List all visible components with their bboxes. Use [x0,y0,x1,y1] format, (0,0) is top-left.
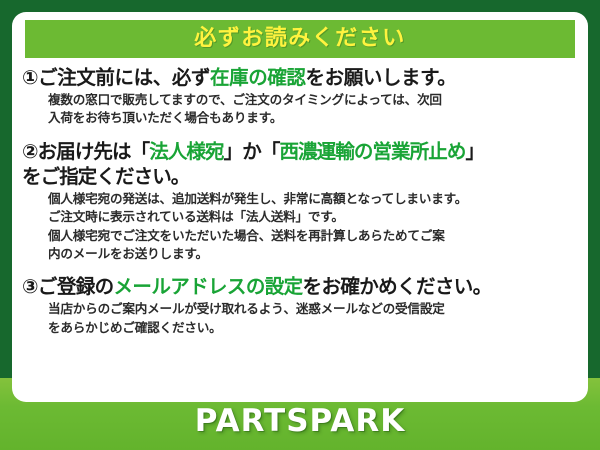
section-3-body-line: 当店からのご案内メールが受け取れるよう、迷惑メールなどの受信設定 [48,300,578,318]
section-2-heading-highlight-depot: 西濃運輸の営業所止め [279,140,465,163]
section-1-heading-before: ご注文前には、必ず [38,66,210,89]
notice-section-3: ③ご登録のメールアドレスの設定をお確かめください。 当店からのご案内メールが受け… [22,275,578,337]
notice-section-2: ②お届け先は「法人様宛」か「西濃運輸の営業所止め」 をご指定ください。 個人様宅… [22,140,578,264]
section-3-heading-after: をお確かめください。 [303,275,492,298]
section-1-heading: ①ご注文前には、必ず在庫の確認をお願いします。 [22,66,578,89]
section-2-body-line: 内のメールをお送りします。 [48,245,578,263]
notice-header-bar: 必ずお読みください [25,20,575,58]
section-1-heading-after: をお願いします。 [306,66,457,89]
section-2-heading-after: 」 [465,140,484,163]
brand-wordmark: PARTSPARK [195,406,406,437]
notice-card: 必ずお読みください ①ご注文前には、必ず在庫の確認をお願いします。 複数の窓口で… [12,12,588,402]
section-1-marker: ① [22,66,38,89]
section-3-body: 当店からのご案内メールが受け取れるよう、迷惑メールなどの受信設定 をあらかじめご… [48,300,578,337]
section-2-heading-middle: 」か「 [224,140,280,163]
section-2-heading: ②お届け先は「法人様宛」か「西濃運輸の営業所止め」 [22,140,578,163]
section-1-body: 複数の窓口で販売してますので、ご注文のタイミングによっては、次回 入荷をお待ち頂… [48,91,578,128]
notice-section-1: ①ご注文前には、必ず在庫の確認をお願いします。 複数の窓口で販売してますので、ご… [22,66,578,128]
section-3-heading: ③ご登録のメールアドレスの設定をお確かめください。 [22,275,578,298]
section-3-heading-before: ご登録の [38,275,114,298]
section-2-marker: ② [22,140,38,163]
section-3-heading-highlight: メールアドレスの設定 [114,275,303,298]
section-3-marker: ③ [22,275,38,298]
section-2-heading-highlight-corporate: 法人様宛 [149,140,223,163]
section-3-body-line: をあらかじめご確認ください。 [48,319,578,337]
section-2-body-line: ご注文時に表示されている送料は「法人送料」です。 [48,208,578,226]
section-2-heading-before: お届け先は「 [38,140,150,163]
section-1-heading-highlight: 在庫の確認 [210,66,306,89]
section-2-heading-line2: をご指定ください。 [22,165,578,188]
section-2-body: 個人様宅宛の発送は、追加送料が発生し、非常に高額となってしまいます。 ご注文時に… [48,190,578,264]
section-2-body-line: 個人様宅宛の発送は、追加送料が発生し、非常に高額となってしまいます。 [48,190,578,208]
notice-banner: PARTSPARK 必ずお読みください ①ご注文前には、必ず在庫の確認をお願いし… [0,0,600,450]
section-2-body-line: 個人様宅宛でご注文をいただいた場合、送料を再計算しあらためてご案 [48,227,578,245]
section-1-body-line: 複数の窓口で販売してますので、ご注文のタイミングによっては、次回 [48,91,578,109]
page-title: 必ずお読みください [194,28,406,50]
section-1-body-line: 入荷をお待ち頂いただく場合もあります。 [48,109,578,127]
